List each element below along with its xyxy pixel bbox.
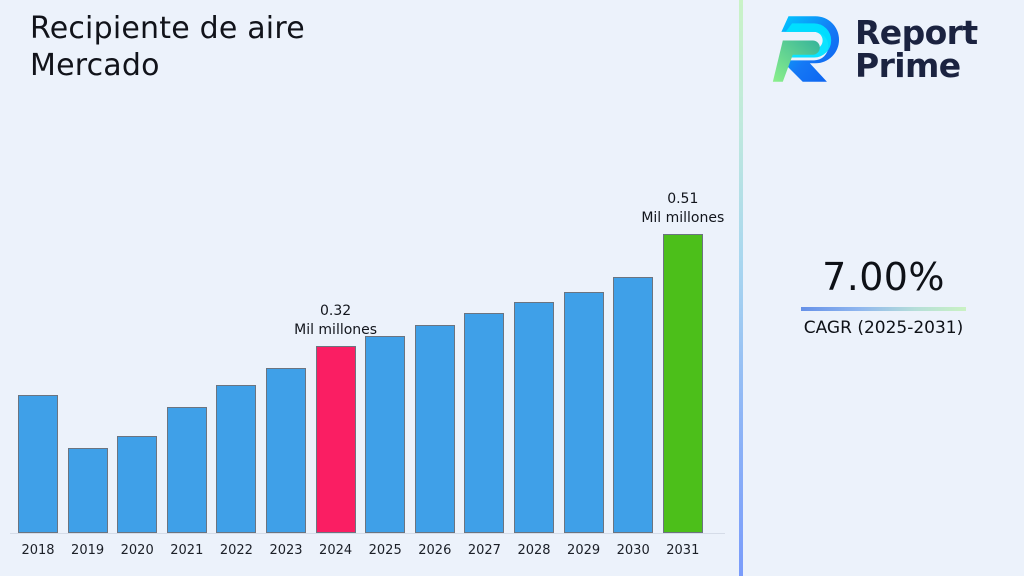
x-tick-2028: 2028 (517, 543, 550, 558)
x-tick-2030: 2030 (617, 543, 650, 558)
value-label-2031: 0.51Mil millones (641, 190, 724, 228)
bar-2021 (167, 407, 207, 533)
bar-2031 (663, 234, 703, 533)
value-label-number: 0.32 (294, 302, 377, 321)
bar-2020 (117, 436, 157, 533)
x-tick-2021: 2021 (170, 543, 203, 558)
value-label-unit: Mil millones (641, 209, 724, 228)
value-label-number: 0.51 (641, 190, 724, 209)
x-tick-2027: 2027 (468, 543, 501, 558)
bar-2018 (18, 395, 58, 533)
bar-2025 (365, 336, 405, 533)
brand-name: Report Prime (855, 16, 978, 82)
bar-2019 (68, 448, 108, 533)
bar-2029 (564, 292, 604, 533)
x-tick-2018: 2018 (21, 543, 54, 558)
brand-logo: Report Prime (771, 12, 978, 86)
bar-2030 (613, 277, 653, 533)
x-tick-2019: 2019 (71, 543, 104, 558)
x-tick-2029: 2029 (567, 543, 600, 558)
x-axis-line (10, 533, 725, 534)
bar-2027 (464, 313, 504, 533)
x-tick-2023: 2023 (269, 543, 302, 558)
cagr-divider-rule (801, 307, 966, 311)
bar-2024 (316, 346, 356, 533)
infographic-root: Recipiente de aire Mercado 2018201920202… (0, 0, 1024, 576)
x-tick-2025: 2025 (369, 543, 402, 558)
x-tick-2026: 2026 (418, 543, 451, 558)
bar-2028 (514, 302, 554, 533)
cagr-caption: CAGR (2025-2031) (743, 317, 1024, 339)
value-label-2024: 0.32Mil millones (294, 302, 377, 340)
x-tick-2024: 2024 (319, 543, 352, 558)
x-tick-2022: 2022 (220, 543, 253, 558)
x-tick-2031: 2031 (666, 543, 699, 558)
value-label-unit: Mil millones (294, 321, 377, 340)
x-tick-2020: 2020 (121, 543, 154, 558)
right-panel: Report Prime 7.00% CAGR (2025-2031) (743, 0, 1024, 576)
cagr-block: 7.00% CAGR (2025-2031) (743, 255, 1024, 339)
bar-chart: 2018201920202021202220232024202520262027… (0, 0, 739, 576)
cagr-value: 7.00% (743, 255, 1024, 299)
bar-2026 (415, 325, 455, 533)
bar-2023 (266, 368, 306, 533)
report-prime-logo-icon (771, 12, 843, 86)
bar-2022 (216, 385, 256, 533)
